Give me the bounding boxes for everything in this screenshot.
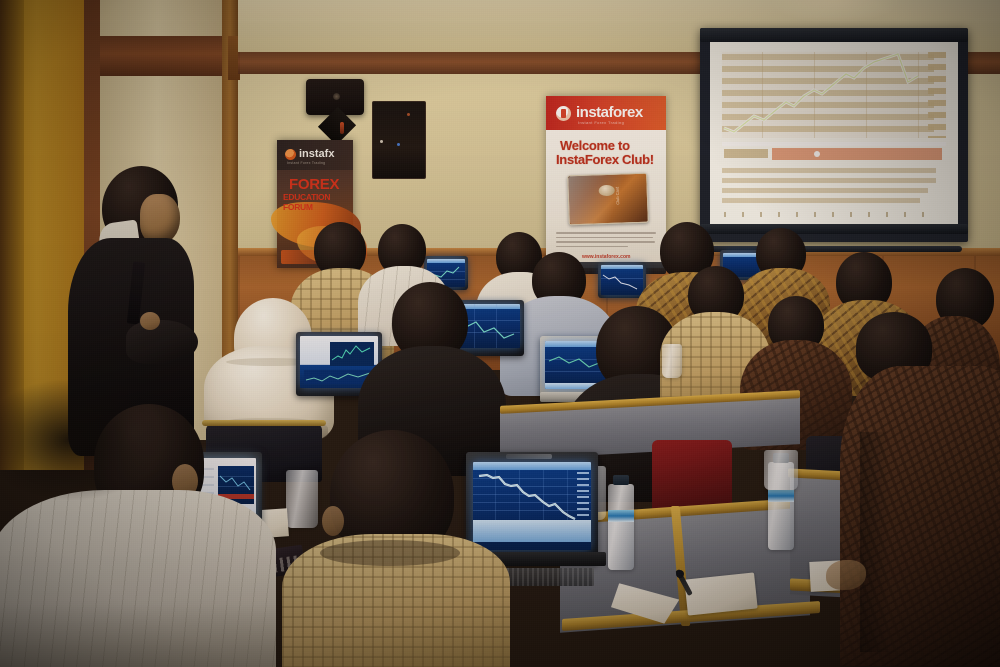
screen-chart-area — [722, 52, 946, 138]
attendee-hand — [826, 560, 866, 590]
attendee-laptop — [598, 262, 646, 298]
screen-quote-marker — [814, 151, 820, 157]
club-card-image: Club Card — [567, 173, 649, 226]
water-bottle — [608, 484, 634, 570]
drinking-glass — [764, 450, 798, 490]
laptop-screen — [601, 265, 643, 295]
dark-banner-line2: EDUCATION FORUM — [283, 192, 353, 212]
instafx-logo-mark — [285, 149, 296, 160]
screen-top-bar — [700, 28, 968, 42]
seminar-room-photo: instafx Instant Forex Trading FOREX EDUC… — [0, 0, 1000, 667]
speaker-led — [340, 122, 344, 134]
laptop-chart-panel — [330, 342, 374, 366]
column-upper-trim — [100, 36, 228, 76]
speaker-indicator-white — [380, 140, 383, 143]
instaforex-logo-tagline: Instant Forex Trading — [578, 120, 624, 125]
paragraph-line — [556, 246, 628, 248]
instafx-logo-text: instafx — [299, 148, 334, 160]
screen-table-row — [722, 198, 920, 203]
foreground-attendee-dark-hair — [282, 430, 512, 667]
attendee-shoulder-shadow — [0, 604, 276, 667]
screen-bottom-bar — [700, 224, 968, 234]
paragraph-line — [556, 237, 653, 239]
instaforex-logo-text: instaforex — [576, 104, 643, 121]
standing-man-face — [140, 194, 180, 244]
screen-price-line — [722, 52, 934, 138]
banner-headline-line1: Welcome to — [560, 138, 630, 153]
bottle-cap — [613, 475, 629, 485]
dark-banner-header: instafx Instant Forex Trading — [277, 140, 353, 170]
notepad[interactable] — [684, 572, 757, 615]
banner-paragraph — [556, 232, 656, 250]
laptop-brand-bar — [506, 454, 552, 459]
card-gloss — [568, 174, 648, 225]
standing-man-arm — [126, 320, 198, 364]
screen-table-row — [722, 178, 936, 183]
speaker-indicator-blue — [397, 143, 400, 146]
standing-man-hand — [140, 312, 160, 330]
instaforex-logo-inner — [561, 109, 566, 118]
projection-screen — [700, 28, 968, 242]
attendee-sleeve-fold — [860, 432, 890, 652]
speaker-driver-dot — [333, 93, 340, 100]
attendee-ear — [322, 506, 344, 536]
paragraph-line — [556, 241, 655, 243]
banner-url-text: www.instaforex.com — [582, 254, 630, 260]
speaker-indicator-red — [407, 113, 410, 116]
screen-surface — [710, 42, 958, 228]
banner-headline-line2: InstaForex Club! — [556, 152, 654, 167]
foreground-shadow-figure — [0, 380, 160, 500]
screen-quote-band — [772, 148, 942, 160]
foreground-attendee-batik-shirt — [846, 312, 1000, 667]
screen-divider — [722, 142, 946, 146]
ceiling-highlight — [770, 0, 900, 24]
attendee-collar-shadow — [320, 540, 460, 566]
screen-axis-ticks — [724, 212, 934, 217]
banner-header: instaforex Instant Forex Trading — [546, 96, 666, 130]
conference-chair — [652, 440, 732, 512]
bottle-label — [608, 510, 634, 522]
instaforex-rollup-banner: instaforex Instant Forex Trading Welcome… — [546, 96, 666, 268]
paragraph-line — [556, 232, 656, 234]
instafx-logo-tagline: Instant Forex Trading — [287, 161, 325, 165]
drinking-glass — [662, 344, 682, 378]
club-card-caption: Club Card — [615, 187, 621, 205]
screen-quote-left-label — [724, 149, 768, 158]
screen-table-row — [722, 188, 928, 193]
bottle-label — [768, 490, 794, 502]
pen-cap — [676, 570, 684, 578]
screen-table-row — [722, 168, 936, 173]
dark-banner-line1: FOREX — [289, 176, 339, 193]
